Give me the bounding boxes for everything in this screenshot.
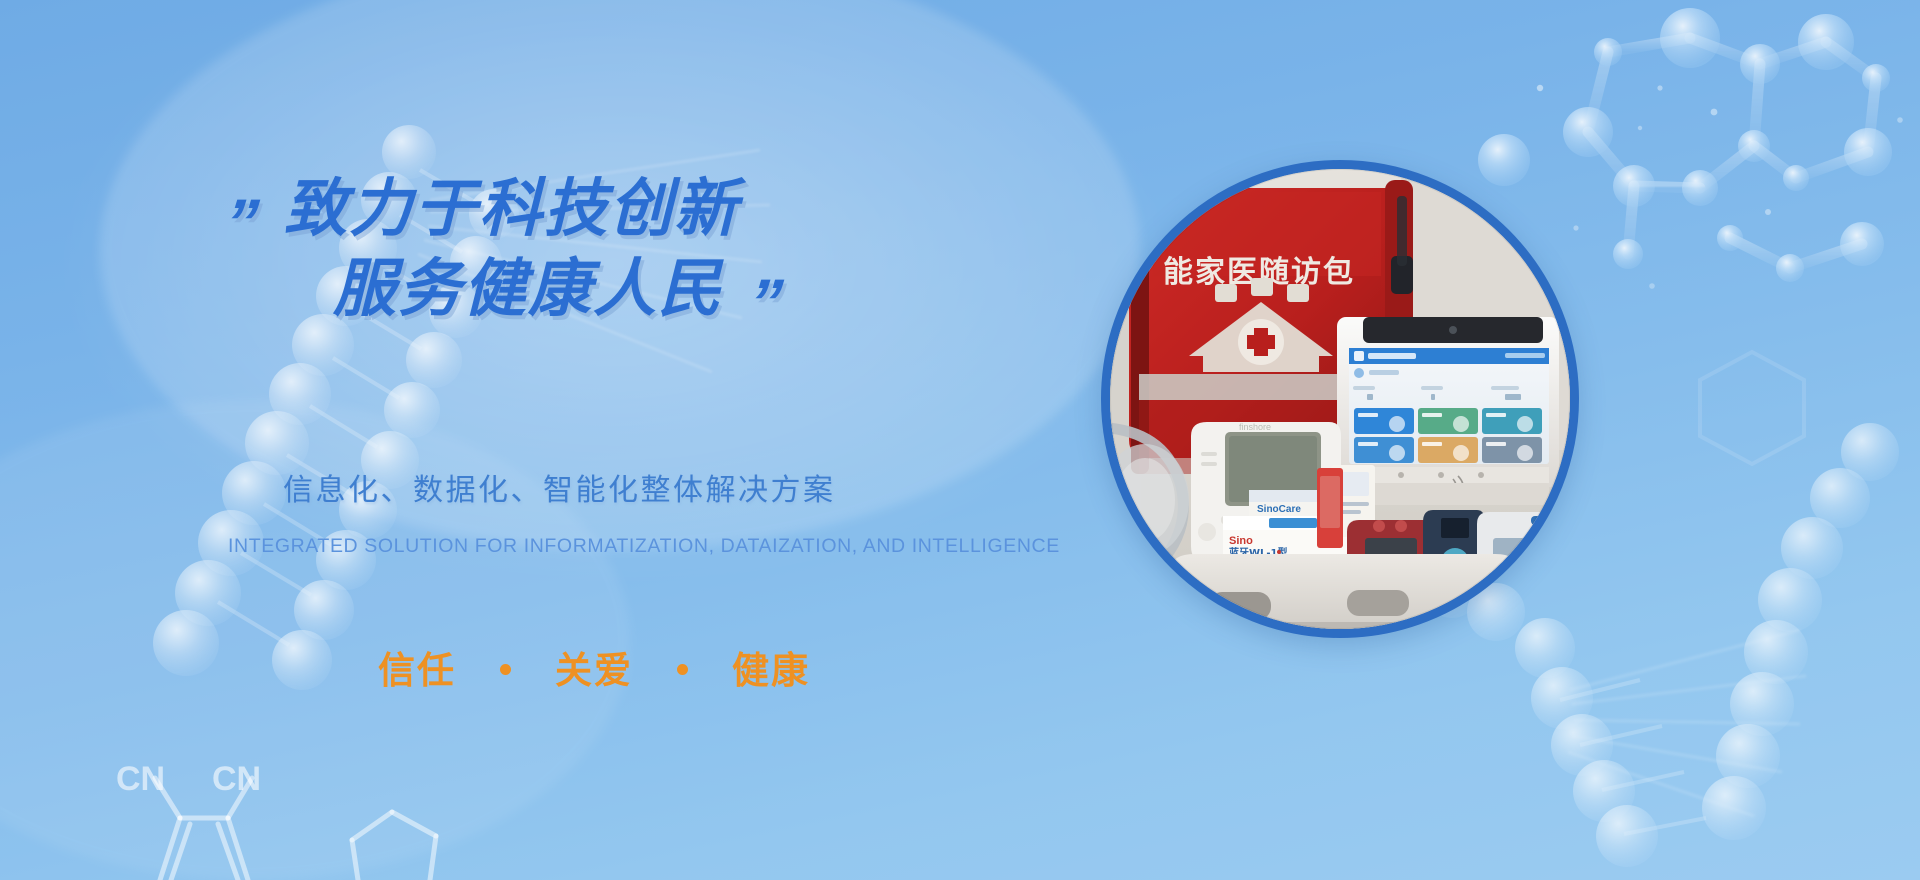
strip-box-brand: SinoCare bbox=[1257, 504, 1301, 515]
hero-banner: CN CN ” 致力于科技创新 服务健康人民 ” 信息化、数据化、智能化整体解决… bbox=[0, 0, 1920, 880]
subtitle-english: INTEGRATED SOLUTION FOR INFORMATIZATION,… bbox=[228, 535, 1060, 558]
tagline-separator-dot-2 bbox=[677, 664, 688, 675]
glucose-box-brand: Sino bbox=[1229, 535, 1253, 547]
tagline-separator-dot-1 bbox=[500, 664, 511, 675]
tagline-word-health: 健康 bbox=[732, 640, 810, 694]
headline-line-1: ” 致力于科技创新 bbox=[225, 175, 1045, 243]
bag-cross-icon bbox=[1238, 319, 1284, 365]
headline-line-2-text: 服务健康人民 bbox=[333, 255, 723, 323]
quote-close-icon: ” bbox=[746, 276, 783, 329]
photo-illustration: 能家医随访包 bbox=[1101, 160, 1579, 638]
subtitle-chinese: 信息化、数据化、智能化整体解决方案 bbox=[283, 465, 836, 509]
tagline-word-care: 关爱 bbox=[555, 640, 633, 694]
quote-open-icon: ” bbox=[222, 196, 259, 249]
tagline: 信任 关爱 健康 bbox=[378, 640, 832, 694]
photo-medical-kit: 能家医随访包 bbox=[1101, 160, 1579, 638]
photo-circle-frame: 能家医随访包 bbox=[1101, 160, 1579, 638]
headline-line-2: 服务健康人民 ” bbox=[225, 255, 1045, 323]
tablet-app-title bbox=[1368, 353, 1416, 359]
tagline-word-trust: 信任 bbox=[378, 640, 456, 694]
headline-block: ” 致力于科技创新 服务健康人民 ” bbox=[225, 175, 1045, 323]
bp-brand-text: finshore bbox=[1239, 422, 1271, 432]
hero-content: ” 致力于科技创新 服务健康人民 ” 信息化、数据化、智能化整体解决方案 INT… bbox=[0, 0, 1100, 880]
headline-line-1-text: 致力于科技创新 bbox=[284, 175, 739, 243]
